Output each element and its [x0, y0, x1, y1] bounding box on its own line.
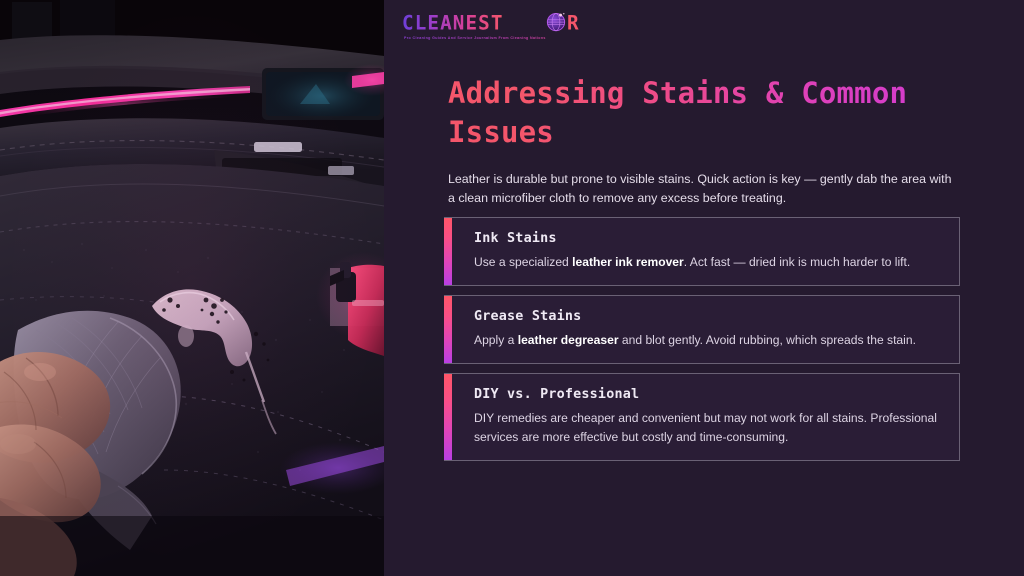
card-accent-bar — [444, 374, 452, 460]
card-description: Use a specialized leather ink remover. A… — [474, 253, 943, 272]
intro-paragraph: Leather is durable but prone to visible … — [448, 170, 954, 208]
desc-highlight: leather ink remover — [572, 255, 684, 269]
card-accent-bar — [444, 218, 452, 285]
car-interior-illustration — [0, 0, 384, 576]
card-title: Grease Stains — [474, 308, 943, 326]
card-body: Ink Stains Use a specialized leather ink… — [452, 218, 959, 285]
svg-text:CLEANEST: CLEANEST — [402, 12, 504, 34]
cleanestor-wordmark-icon: CLEANEST R — [402, 12, 622, 34]
card-title: Ink Stains — [474, 230, 943, 248]
hero-photo — [0, 0, 384, 576]
page-title: Addressing Stains & Common Issues — [448, 74, 988, 152]
desc-highlight: leather degreaser — [518, 333, 619, 347]
stain-cards-list: Ink Stains Use a specialized leather ink… — [444, 217, 960, 461]
card-description: Apply a leather degreaser and blot gentl… — [474, 331, 943, 350]
desc-text-after: and blot gently. Avoid rubbing, which sp… — [619, 333, 916, 347]
card-body: Grease Stains Apply a leather degreaser … — [452, 296, 959, 363]
card-accent-bar — [444, 296, 452, 363]
brand-tagline: Pro Cleaning Guides And Service Journali… — [402, 35, 622, 41]
slide-root: CLEANEST R Pro Cleaning Guides And Servi… — [0, 0, 1024, 576]
card-diy-vs-professional[interactable]: DIY vs. Professional DIY remedies are ch… — [444, 373, 960, 461]
desc-text-before: Use a specialized — [474, 255, 572, 269]
desc-text-after: . Act fast — dried ink is much harder to… — [684, 255, 911, 269]
desc-text-before: Apply a — [474, 333, 518, 347]
card-ink-stains[interactable]: Ink Stains Use a specialized leather ink… — [444, 217, 960, 286]
card-grease-stains[interactable]: Grease Stains Apply a leather degreaser … — [444, 295, 960, 364]
brand-logo[interactable]: CLEANEST R Pro Cleaning Guides And Servi… — [402, 12, 622, 41]
desc-text-before: DIY remedies are cheaper and convenient … — [474, 411, 937, 444]
card-body: DIY vs. Professional DIY remedies are ch… — [452, 374, 959, 460]
card-description: DIY remedies are cheaper and convenient … — [474, 409, 943, 447]
svg-text:R: R — [567, 12, 580, 34]
content-panel: CLEANEST R Pro Cleaning Guides And Servi… — [384, 0, 1024, 576]
card-title: DIY vs. Professional — [474, 386, 943, 404]
